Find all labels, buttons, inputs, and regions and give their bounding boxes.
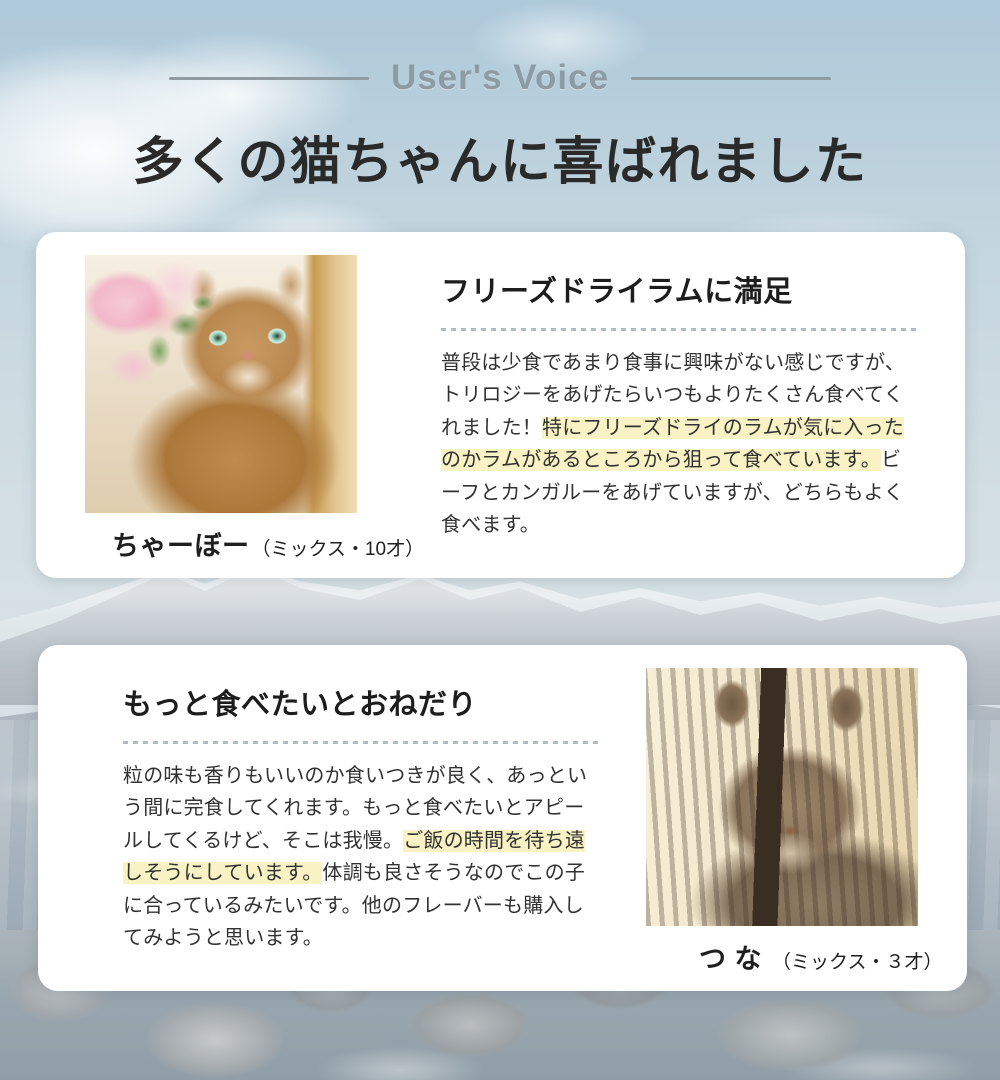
cat-meta: （ミックス・３才）	[772, 947, 942, 974]
testimonial-body: もっと食べたいとおねだり 粒の味も香りもいいのか食いつきが良く、あっという間に完…	[123, 681, 603, 954]
testimonial-text: 粒の味も香りもいいのか食いつきが良く、あっという間に完食してくれます。もっと食べ…	[123, 760, 603, 954]
eyebrow-rule-left	[169, 77, 369, 80]
eyebrow-rule-right	[631, 77, 831, 80]
testimonial-card: つ な （ミックス・３才） もっと食べたいとおねだり 粒の味も香りもいいのか食い…	[38, 645, 967, 991]
eyebrow-label: User's Voice	[391, 58, 609, 98]
testimonial-text: 普段は少食であまり食事に興味がない感じですが、トリロジーをあげたらいつもよりたく…	[441, 347, 921, 541]
testimonial-body: フリーズドライラムに満足 普段は少食であまり食事に興味がない感じですが、トリロジ…	[441, 268, 921, 541]
cat-photo-tsuna	[646, 668, 918, 926]
cat-caption: ちゃーぼー （ミックス・10才）	[112, 524, 424, 563]
dotted-divider	[123, 741, 603, 744]
testimonial-title: もっと食べたいとおねだり	[123, 681, 603, 723]
section-eyebrow: User's Voice	[0, 0, 1000, 98]
cat-meta: （ミックス・10才）	[252, 534, 425, 561]
testimonial-title: フリーズドライラムに満足	[441, 268, 921, 310]
page-title: 多くの猫ちゃんに喜ばれました	[0, 120, 1000, 194]
dotted-divider	[441, 328, 921, 331]
cat-caption: つ な （ミックス・３才）	[699, 937, 942, 976]
cat-name: つ な	[699, 937, 762, 976]
testimonial-card: ちゃーぼー （ミックス・10才） フリーズドライラムに満足 普段は少食であまり食…	[36, 232, 965, 578]
cat-photo-charbo	[85, 255, 357, 513]
cat-name: ちゃーぼー	[112, 524, 250, 563]
